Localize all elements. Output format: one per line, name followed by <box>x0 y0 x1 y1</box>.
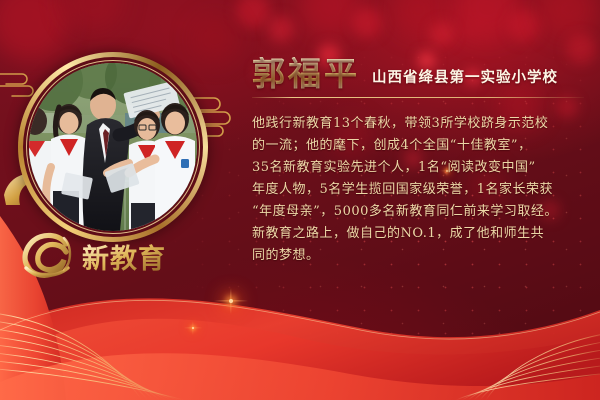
biography-line: 新教育之路上，做自己的NO.1，成了他和师生共 <box>252 223 588 245</box>
bokeh-circle <box>392 0 444 36</box>
biography-line: 年度人物，5名学生揽回国家级荣誉，1名家长荣获 <box>252 179 588 201</box>
gold-divider <box>252 97 584 98</box>
bokeh-circle <box>236 0 270 28</box>
bokeh-circle <box>0 0 68 60</box>
bokeh-circle <box>454 0 520 40</box>
headline-row: 郭福平 山西省绛县第一实验小学校 <box>252 42 588 90</box>
stylized-e-icon <box>25 235 70 275</box>
logo-text: 新教育 <box>82 243 166 275</box>
biography-line: “年度母亲”，5000多名新教育同仁前来学习取经。 <box>252 201 588 223</box>
bokeh-circle <box>268 16 294 42</box>
poster-canvas: 新教育 郭福平 山西省绛县第一实验小学校 他践行新教育13个春秋，带领3所学校跻… <box>0 0 600 400</box>
person-name: 郭福平 <box>252 57 360 90</box>
biography-line: 35名新教育实验先进个人，1名“阅读改变中国” <box>252 157 588 179</box>
biography-line: 的一流；他的麾下，创成4个全国“十佳教室”， <box>252 135 588 157</box>
portrait-photo-frame <box>18 52 208 242</box>
biography-line: 他践行新教育13个春秋，带领3所学校跻身示范校 <box>252 113 588 135</box>
bokeh-circle <box>300 0 360 36</box>
bokeh-circle <box>508 10 540 42</box>
school-name: 山西省绛县第一实验小学校 <box>372 66 558 90</box>
bokeh-circle <box>352 8 382 38</box>
bokeh-circle <box>540 0 598 38</box>
photo-image <box>29 63 197 231</box>
brand-logo: 新教育 <box>14 228 194 284</box>
biography-text: 他践行新教育13个春秋，带领3所学校跻身示范校的一流；他的麾下，创成4个全国“十… <box>252 113 588 267</box>
bokeh-circle <box>62 0 124 32</box>
biography-line: 同的梦想。 <box>252 245 588 267</box>
content-panel: 郭福平 山西省绛县第一实验小学校 他践行新教育13个春秋，带领3所学校跻身示范校… <box>252 42 588 267</box>
